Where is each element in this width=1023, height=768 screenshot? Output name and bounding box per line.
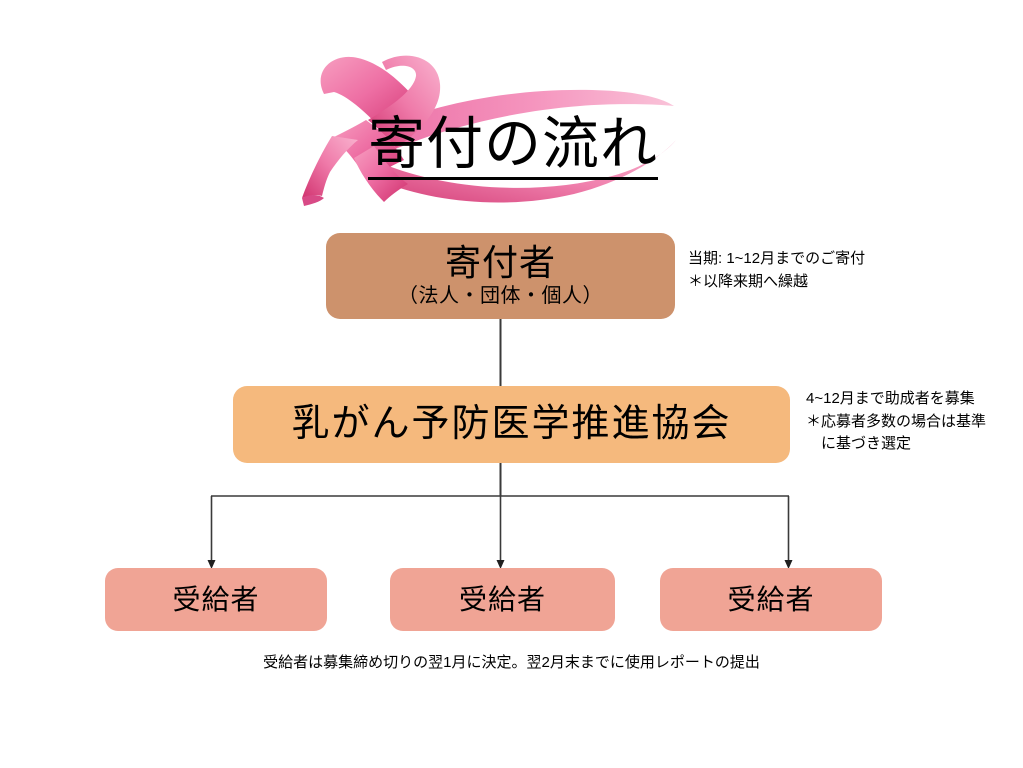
flow-node-organization-title: 乳がん予防医学推進協会 (291, 405, 731, 445)
note-organization: 4~12月まで助成者を募集 ＊応募者多数の場合は基準 に基づき選定 (806, 388, 986, 456)
flow-node-recipient-2: 受給者 (390, 568, 615, 631)
page-title: 寄付の流れ (368, 116, 658, 180)
flow-node-recipient-3-title: 受給者 (727, 585, 814, 614)
flow-node-donor-title: 寄付者 (445, 244, 556, 282)
flow-node-donor: 寄付者 （法人・団体・個人） (326, 233, 675, 319)
title-block: 寄付の流れ (262, 48, 682, 208)
flow-node-organization: 乳がん予防医学推進協会 (233, 386, 790, 463)
flow-node-recipient-1-title: 受給者 (172, 585, 259, 614)
flow-node-recipient-1: 受給者 (105, 568, 327, 631)
flow-node-recipient-3: 受給者 (660, 568, 882, 631)
footer-caption: 受給者は募集締め切りの翌1月に決定。翌2月末までに使用レポートの提出 (0, 652, 1023, 673)
flow-node-donor-subtitle: （法人・団体・個人） (398, 284, 603, 308)
diagram-canvas: 寄付の流れ 寄付者 （法人・団体・個人） 乳がん予防医学推進協会 受給者 受給者… (0, 0, 1023, 768)
flow-node-recipient-2-title: 受給者 (459, 585, 546, 614)
note-donor: 当期: 1~12月までのご寄付 ＊以降来期へ繰越 (688, 248, 865, 293)
